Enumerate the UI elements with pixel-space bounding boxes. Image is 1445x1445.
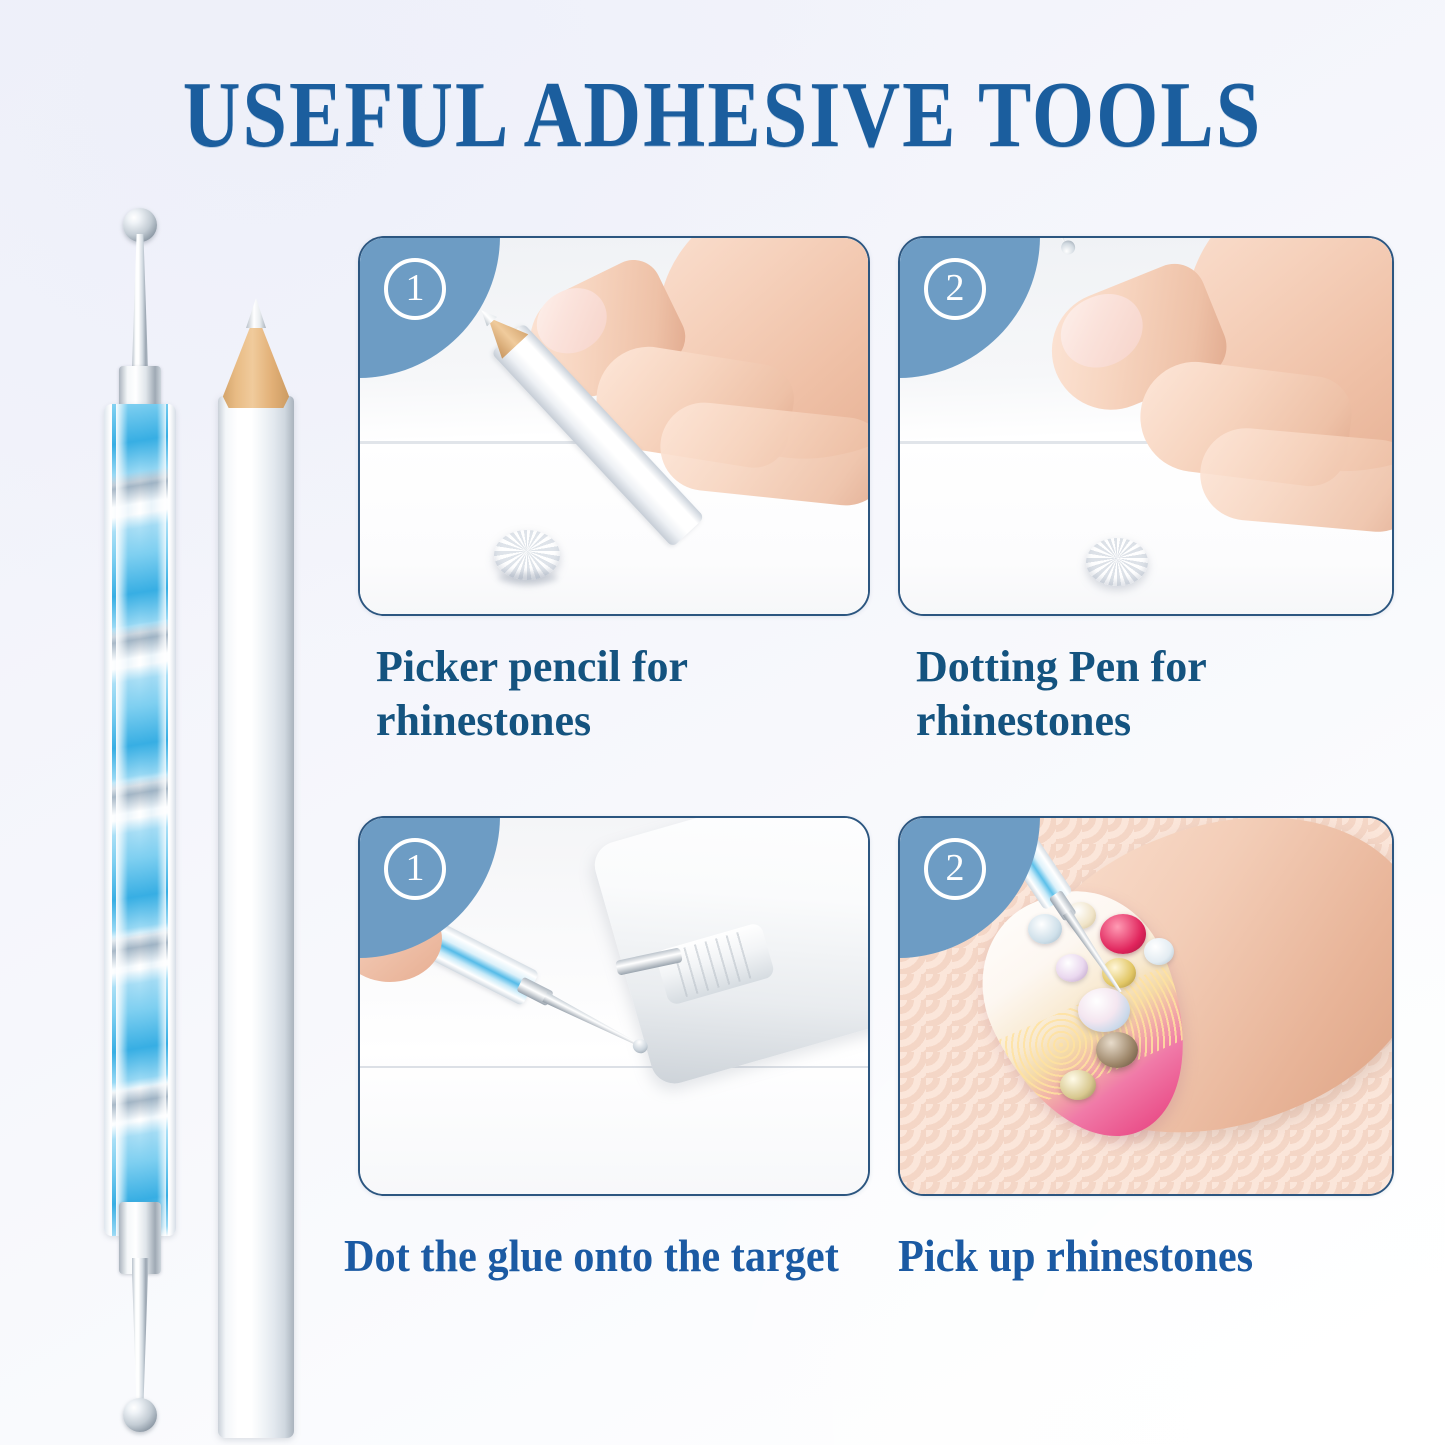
pen-shaft-top [132, 234, 149, 382]
caption-line-1: Dotting Pen for [916, 640, 1396, 694]
product-photo-group [40, 190, 330, 1445]
pencil-barrel [218, 396, 294, 1438]
circled-number-icon: 2 [924, 258, 986, 320]
pen-shaft-bottom [132, 1258, 149, 1406]
page-title: USEFUL ADHESIVE TOOLS [0, 62, 1445, 169]
white-picker-pencil-image [212, 278, 300, 1438]
caption-card-3: Dot the glue onto the target [344, 1228, 859, 1284]
rhinestone-gem-icon [1086, 538, 1148, 586]
pen-ball-tip-bottom-icon [123, 1398, 157, 1432]
rhinestone-shadow [498, 572, 558, 584]
pen-highlight-left [116, 404, 128, 1236]
scene-table-edge [360, 1066, 868, 1068]
caption-card-2: Dotting Pen for rhinestones [916, 640, 1396, 747]
step-card-1[interactable]: 1 [358, 236, 870, 616]
circled-number-icon: 1 [384, 258, 446, 320]
dotting-pen-balltip-in-scene [630, 1037, 650, 1056]
circled-number-icon: 2 [924, 838, 986, 900]
nail-rhinestone [1096, 1032, 1138, 1068]
step-card-2[interactable]: 2 [898, 236, 1394, 616]
caption-card-1: Picker pencil for rhinestones [376, 640, 856, 747]
double-ended-dotting-pen-image [95, 190, 185, 1445]
caption-card-4: Pick up rhinestones [898, 1228, 1376, 1284]
nail-rhinestone [1144, 938, 1174, 965]
step-card-4[interactable]: 2 [898, 816, 1394, 1196]
pencil-wax-tip [246, 298, 266, 328]
caption-line-2: rhinestones [916, 694, 1396, 748]
infographic-canvas: USEFUL ADHESIVE TOOLS [0, 0, 1445, 1445]
caption-line-1: Picker pencil for [376, 640, 856, 694]
step-card-3[interactable]: 1 [358, 816, 870, 1196]
pen-body [104, 404, 176, 1236]
pen-highlight-right [157, 404, 166, 1236]
circled-number-icon: 1 [384, 838, 446, 900]
caption-line-2: rhinestones [376, 694, 856, 748]
nail-rhinestone [1060, 1070, 1096, 1100]
